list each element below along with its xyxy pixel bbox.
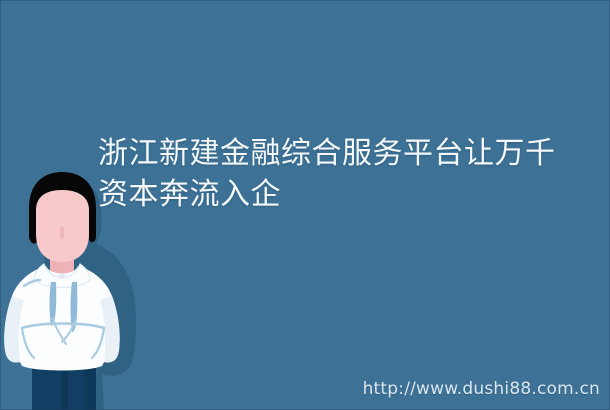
hood-eyelet: [59, 273, 65, 279]
source-url-watermark: http://www.dushi88.com.cn: [363, 379, 600, 399]
face-group: [36, 190, 89, 262]
headline-line-1: 浙江新建金融综合服务平台让万千: [98, 133, 594, 174]
pants-shade: [62, 370, 68, 410]
headline-line-2: 资本奔流入企: [98, 174, 594, 215]
article-cover: 浙江新建金融综合服务平台让万千 资本奔流入企 http://www.dushi8…: [0, 0, 610, 410]
page-title: 浙江新建金融综合服务平台让万千 资本奔流入企: [98, 133, 594, 215]
